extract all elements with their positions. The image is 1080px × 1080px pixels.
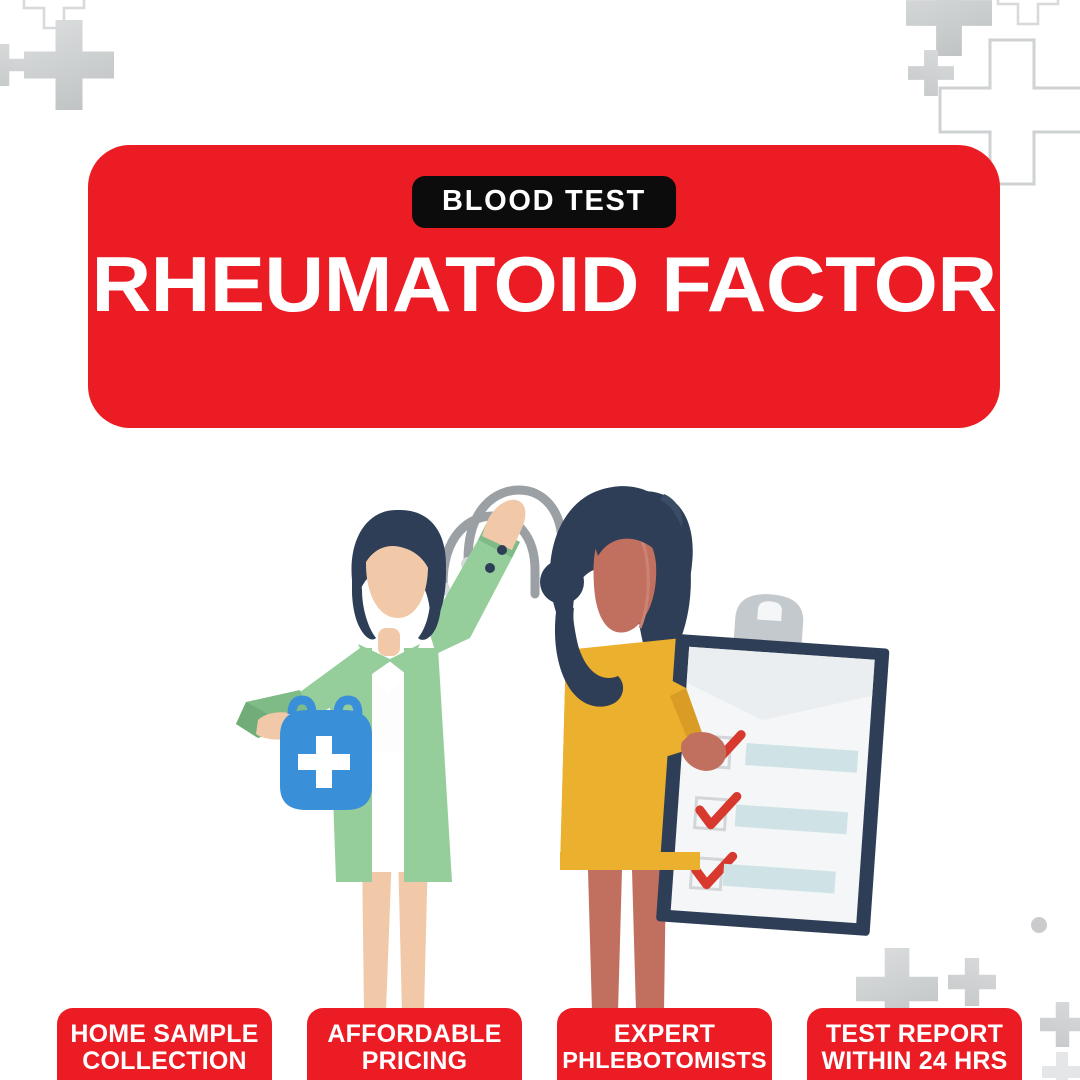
feature-badge-expert-phlebotomists[interactable]: EXPERT PHLEBOTOMISTS bbox=[557, 1008, 772, 1080]
medical-bag-icon bbox=[280, 700, 372, 810]
feature-line-1: EXPERT bbox=[614, 1021, 715, 1048]
feature-line-2: WITHIN 24 HRS bbox=[822, 1048, 1008, 1075]
phleb-leg bbox=[588, 870, 622, 1012]
feature-line-1: AFFORDABLE bbox=[327, 1021, 501, 1048]
feature-line-2: PRICING bbox=[362, 1048, 468, 1075]
feature-line-2: COLLECTION bbox=[82, 1048, 247, 1075]
feature-badge-test-report-24hrs[interactable]: TEST REPORT WITHIN 24 HRS bbox=[807, 1008, 1022, 1080]
doctor-coat-right bbox=[404, 648, 452, 882]
cross-outline-icon bbox=[996, 0, 1060, 26]
feature-badge-affordable-pricing[interactable]: AFFORDABLE PRICING bbox=[307, 1008, 522, 1080]
figure-phlebotomist bbox=[550, 486, 893, 1012]
header-banner: BLOOD TEST RHEUMATOID FACTOR bbox=[88, 145, 1000, 428]
feature-badge-home-sample-collection[interactable]: HOME SAMPLE COLLECTION bbox=[57, 1008, 272, 1080]
cross-icon bbox=[24, 20, 114, 110]
poster-canvas: BLOOD TEST RHEUMATOID FACTOR bbox=[0, 0, 1080, 1080]
illustration-healthcare-workers bbox=[0, 452, 1080, 1022]
cross-icon bbox=[0, 44, 24, 86]
feature-line-2: PHLEBOTOMISTS bbox=[562, 1048, 767, 1073]
category-badge: BLOOD TEST bbox=[412, 176, 676, 228]
feature-line-1: TEST REPORT bbox=[826, 1021, 1003, 1048]
figure-doctor bbox=[236, 490, 584, 1012]
feature-badges: HOME SAMPLE COLLECTION AFFORDABLE PRICIN… bbox=[0, 1008, 1080, 1080]
page-title: RHEUMATOID FACTOR bbox=[61, 245, 1028, 323]
doctor-neck bbox=[378, 628, 400, 656]
feature-line-1: HOME SAMPLE bbox=[70, 1021, 258, 1048]
